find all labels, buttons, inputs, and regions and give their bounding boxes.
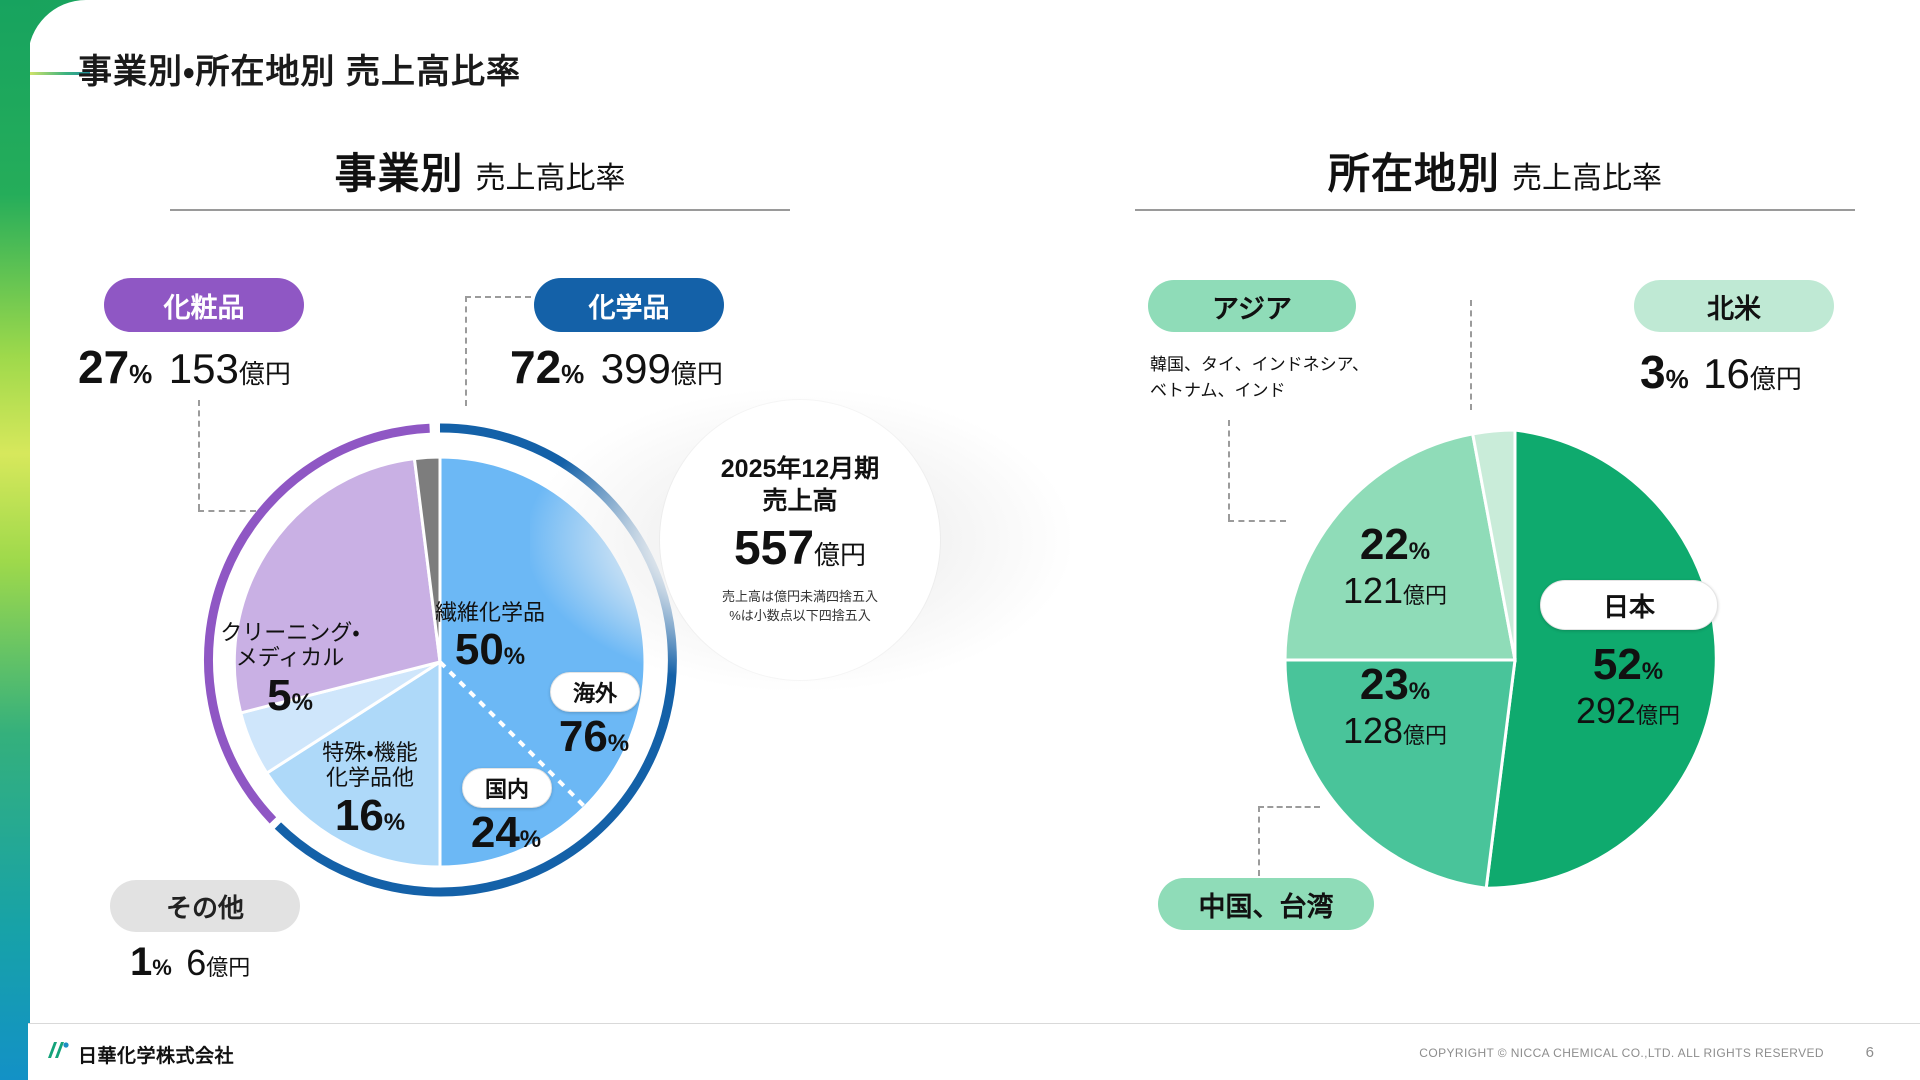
cleaning-medical-pct-symbol: % [292,689,313,716]
overseas-pct: 76 [559,712,608,761]
slice-label-japan: 52% 292億円 [1540,640,1716,732]
callout-pill-asia: アジア [1148,280,1356,332]
chemicals-unit: 億円 [671,359,723,389]
chemicals-pct-symbol: % [561,359,584,389]
asia-unit: 億円 [1403,583,1447,608]
callout-value-north-america: 3% 16億円 [1640,345,1802,399]
slice-label-fiber-chemicals: 繊維化学品 50% [400,600,580,675]
slice-label-special-chemicals: 特殊・機能 化学品他 16% [280,740,460,841]
slice-label-china-taiwan: 23% 128億円 [1290,660,1500,752]
chemicals-amount: 399 [601,345,671,392]
china-taiwan-amount: 128 [1343,710,1403,751]
cleaning-medical-name-2: メディカル [180,645,400,670]
others-amount: 6 [186,942,206,983]
callout-pill-cosmetics-label: 化粧品 [164,286,245,325]
left-heading-sub: 売上高比率 [476,153,626,197]
others-pct-symbol: % [152,955,172,980]
nicca-logo-icon [46,1040,72,1062]
callout-pill-north-america-label: 北米 [1707,287,1761,326]
special-chemicals-pct: 16 [335,791,384,840]
fiber-chemicals-pct: 50 [455,625,504,674]
hub-note-line-2: %は小数点以下四捨五入 [722,607,878,626]
cosmetics-amount: 153 [169,345,239,392]
pill-overseas: 海外 [550,672,640,712]
footer-copyright: COPYRIGHT © NICCA CHEMICAL CO.,LTD. ALL … [1419,1046,1824,1060]
china-taiwan-pct: 23 [1360,660,1409,709]
callout-pill-chemicals: 化学品 [534,278,724,332]
callout-value-cosmetics: 27% 153億円 [78,340,291,394]
japan-pct: 52 [1593,640,1642,689]
asia-pct: 22 [1360,520,1409,569]
callout-pill-asia-label: アジア [1212,287,1292,326]
asia-note-line-1: 韓国、タイ、インドネシア、 [1150,352,1369,378]
pill-japan-label: 日本 [1603,587,1655,624]
callout-pill-north-america: 北米 [1634,280,1834,332]
north-america-pct-symbol: % [1666,364,1689,394]
right-heading-rule [1135,209,1855,211]
hub-unit: 億円 [814,540,866,570]
hub-metric: 売上高 [762,486,837,517]
connector-asia [1228,420,1230,520]
chemicals-pct: 72 [510,341,561,393]
asia-note-line-2: ベトナム、インド [1150,378,1369,404]
north-america-pct: 3 [1640,346,1666,398]
connector-chemicals [465,296,467,406]
japan-pct-symbol: % [1642,658,1663,685]
pill-domestic-label: 国内 [485,772,529,804]
others-pct: 1 [130,940,152,984]
north-america-amount: 16 [1703,350,1750,397]
slide-footer: 日華化学株式会社 COPYRIGHT © NICCA CHEMICAL CO.,… [28,1023,1920,1080]
hub-value: 557 [734,522,814,575]
callout-value-chemicals: 72% 399億円 [510,340,723,394]
slice-label-asia: 22% 121億円 [1290,520,1500,612]
japan-amount: 292 [1576,690,1636,731]
fiber-chemicals-name: 繊維化学品 [400,600,580,625]
domestic-pct: 24 [471,808,520,857]
hub-note-line-1: 売上高は億円未満四捨五入 [722,588,878,607]
accent-strip [0,0,30,1080]
others-unit: 億円 [206,955,250,980]
hub-value-row: 557億円 [734,521,866,576]
total-sales-hub: 2025年12月期 売上高 557億円 売上高は億円未満四捨五入 %は小数点以下… [660,400,940,680]
callout-pill-cosmetics: 化粧品 [104,278,304,332]
connector-chemicals-h [465,296,531,298]
right-heading-main: 所在地別 [1328,140,1500,201]
cosmetics-pct: 27 [78,341,129,393]
value-overseas: 76% [550,712,638,762]
pill-japan: 日本 [1540,580,1718,630]
callout-pill-chemicals-label: 化学品 [589,286,670,325]
pill-domestic: 国内 [462,768,552,808]
china-taiwan-unit: 億円 [1403,723,1447,748]
value-domestic: 24% [462,808,550,858]
cosmetics-pct-symbol: % [129,359,152,389]
callout-value-others: 1% 6億円 [130,940,250,985]
fiber-chemicals-pct-symbol: % [504,643,525,670]
asia-country-note: 韓国、タイ、インドネシア、 ベトナム、インド [1150,352,1369,403]
left-section-header: 事業別 売上高比率 [170,140,790,211]
left-heading-rule [170,209,790,211]
cleaning-medical-name-1: クリーニング・ [180,620,400,645]
overseas-pct-symbol: % [608,730,629,757]
hub-period: 2025年12月期 [721,454,879,485]
right-heading-sub: 売上高比率 [1512,153,1662,197]
connector-china-taiwan [1258,806,1260,876]
north-america-unit: 億円 [1750,364,1802,394]
page-number: 6 [1866,1044,1874,1061]
asia-pct-symbol: % [1409,538,1430,565]
pill-overseas-label: 海外 [573,676,617,708]
footer-company-name: 日華化学株式会社 [78,1041,234,1068]
special-chemicals-pct-symbol: % [384,809,405,836]
asia-amount: 121 [1343,570,1403,611]
china-taiwan-pct-symbol: % [1409,678,1430,705]
slice-label-cleaning-medical: クリーニング・ メディカル 5% [180,620,400,721]
japan-unit: 億円 [1636,703,1680,728]
cosmetics-unit: 億円 [239,359,291,389]
hub-note: 売上高は億円未満四捨五入 %は小数点以下四捨五入 [722,588,878,626]
cleaning-medical-pct: 5 [267,671,291,720]
special-chemicals-name-1: 特殊・機能 [280,740,460,765]
left-heading-main: 事業別 [334,140,463,201]
right-section-header: 所在地別 売上高比率 [1135,140,1855,211]
connector-north-america [1470,300,1472,410]
page-title: 事業別・所在地別 売上高比率 [78,44,521,93]
special-chemicals-name-2: 化学品他 [280,765,460,790]
domestic-pct-symbol: % [520,826,541,853]
